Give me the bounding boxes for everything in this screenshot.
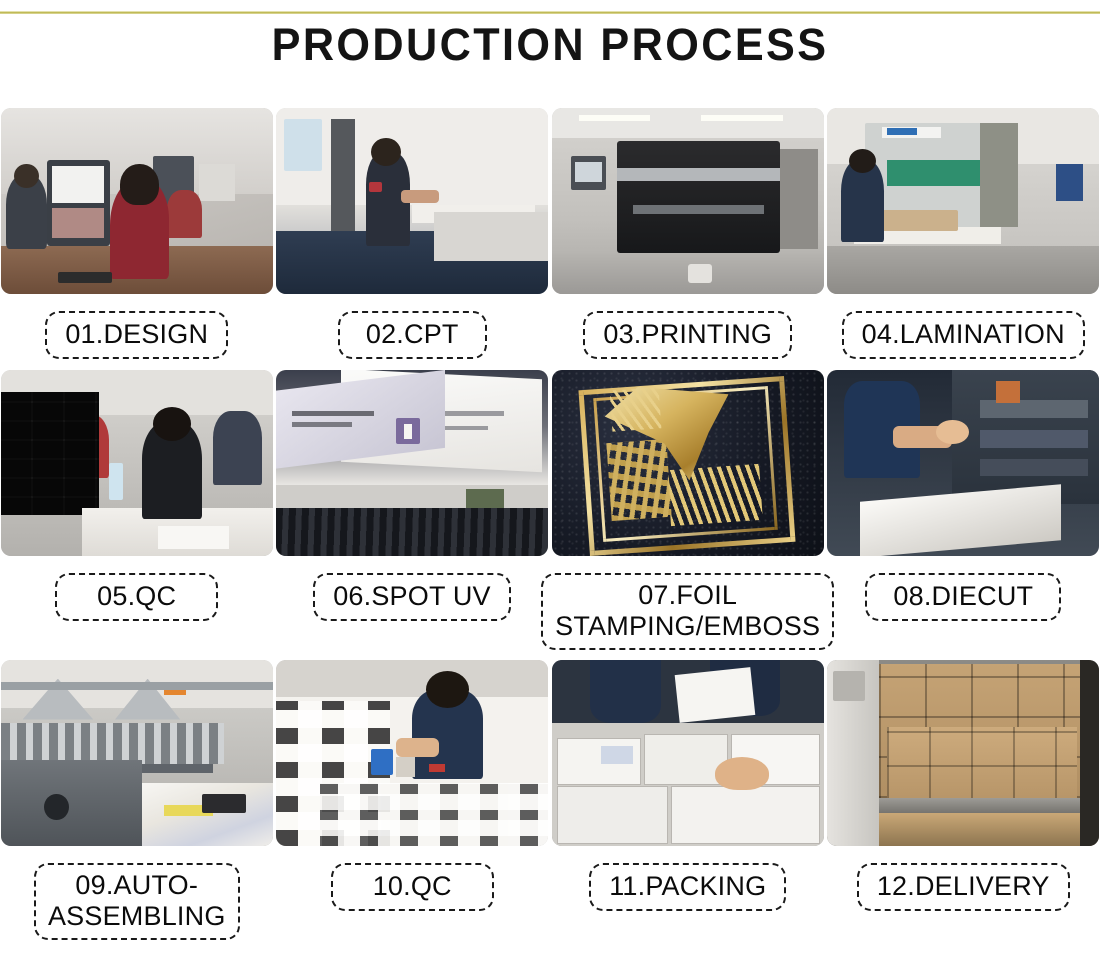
step-label-11[interactable]: 11.PACKING bbox=[589, 863, 786, 911]
process-row-3: 09.AUTO- ASSEMBLING 10.QC bbox=[0, 660, 1100, 960]
top-accent-rule bbox=[0, 11, 1100, 14]
process-step-03[interactable]: 03.PRINTING bbox=[551, 108, 825, 370]
step-label-10[interactable]: 10.QC bbox=[331, 863, 494, 911]
page-title-container: PRODUCTION PROCESS bbox=[0, 22, 1100, 67]
step-label-03[interactable]: 03.PRINTING bbox=[583, 311, 792, 359]
photo-printing bbox=[552, 108, 824, 294]
photo-diecut bbox=[827, 370, 1099, 556]
process-step-05[interactable]: 05.QC bbox=[0, 370, 273, 660]
process-step-02[interactable]: 02.CPT bbox=[276, 108, 550, 370]
process-step-01[interactable]: 01.DESIGN bbox=[0, 108, 274, 370]
step-label-09[interactable]: 09.AUTO- ASSEMBLING bbox=[34, 863, 240, 940]
step-label-02[interactable]: 02.CPT bbox=[338, 311, 487, 359]
photo-packing bbox=[552, 660, 824, 846]
process-step-04[interactable]: 04.LAMINATION bbox=[827, 108, 1100, 370]
process-row-1: 01.DESIGN 02.CPT 03.PRINTING bbox=[0, 108, 1100, 370]
step-label-07[interactable]: 07.FOIL STAMPING/EMBOSS bbox=[541, 573, 834, 650]
process-step-06[interactable]: 06.SPOT UV bbox=[275, 370, 548, 660]
step-label-06[interactable]: 06.SPOT UV bbox=[313, 573, 511, 621]
step-label-08[interactable]: 08.DIECUT bbox=[865, 573, 1061, 621]
photo-lamination bbox=[827, 108, 1099, 294]
process-row-2: 05.QC 06.SPOT UV bbox=[0, 370, 1100, 660]
step-label-01[interactable]: 01.DESIGN bbox=[45, 311, 228, 359]
photo-delivery bbox=[827, 660, 1099, 846]
photo-spot-uv bbox=[276, 370, 548, 556]
process-step-07[interactable]: 07.FOIL STAMPING/EMBOSS bbox=[551, 370, 825, 660]
page-title: PRODUCTION PROCESS bbox=[272, 22, 829, 67]
step-label-04[interactable]: 04.LAMINATION bbox=[842, 311, 1085, 359]
photo-design bbox=[1, 108, 273, 294]
photo-qc bbox=[1, 370, 273, 556]
process-step-12[interactable]: 12.DELIVERY bbox=[827, 660, 1100, 960]
photo-qc-2 bbox=[276, 660, 548, 846]
step-label-12[interactable]: 12.DELIVERY bbox=[857, 863, 1070, 911]
step-label-05[interactable]: 05.QC bbox=[55, 573, 218, 621]
photo-auto-assembling bbox=[1, 660, 273, 846]
production-process-grid: 01.DESIGN 02.CPT 03.PRINTING bbox=[0, 108, 1100, 960]
process-step-09[interactable]: 09.AUTO- ASSEMBLING bbox=[0, 660, 274, 960]
photo-foil-stamping bbox=[552, 370, 824, 556]
process-step-10[interactable]: 10.QC bbox=[276, 660, 550, 960]
process-step-11[interactable]: 11.PACKING bbox=[551, 660, 825, 960]
photo-cpt bbox=[276, 108, 548, 294]
process-step-08[interactable]: 08.DIECUT bbox=[827, 370, 1100, 660]
